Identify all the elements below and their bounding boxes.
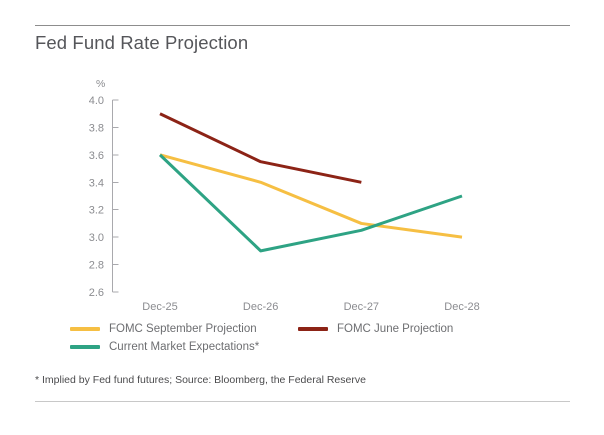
y-axis-ticks: 4.03.83.63.43.23.02.82.6: [89, 95, 119, 299]
y-axis: 4.03.83.63.43.23.02.82.6: [89, 95, 119, 299]
y-tick-label: 2.6: [89, 287, 104, 299]
series-lines: [160, 114, 462, 251]
x-tick-label: Dec-28: [444, 301, 479, 313]
chart-card: Fed Fund Rate Projection 4.03.83.63.43.2…: [0, 0, 604, 435]
x-tick-label: Dec-25: [142, 301, 177, 313]
legend-swatch-market-expectations: [70, 345, 100, 349]
y-tick-label: 2.8: [89, 260, 104, 272]
chart-legend: FOMC September Projection FOMC June Proj…: [70, 320, 570, 356]
y-axis-unit-label: %: [96, 78, 105, 90]
legend-row-2: Current Market Expectations*: [70, 338, 570, 356]
y-tick-label: 3.0: [89, 232, 104, 244]
legend-item-fomc-september[interactable]: FOMC September Projection: [70, 320, 298, 338]
series-line-fomc-june: [160, 114, 361, 183]
legend-label-market-expectations: Current Market Expectations*: [109, 341, 259, 353]
y-tick-label: 3.8: [89, 122, 104, 134]
x-axis-ticks: Dec-25Dec-26Dec-27Dec-28: [142, 301, 479, 313]
x-tick-label: Dec-26: [243, 301, 278, 313]
bottom-divider: [35, 401, 570, 402]
y-tick-label: 3.2: [89, 205, 104, 217]
footnote-text: * Implied by Fed fund futures; Source: B…: [35, 374, 366, 386]
legend-item-fomc-june[interactable]: FOMC June Projection: [298, 320, 453, 338]
line-chart-svg: 4.03.83.63.43.23.02.82.6 Dec-25Dec-26Dec…: [0, 0, 604, 435]
legend-label-fomc-june: FOMC June Projection: [337, 323, 453, 335]
legend-label-fomc-september: FOMC September Projection: [109, 323, 257, 335]
legend-item-market-expectations[interactable]: Current Market Expectations*: [70, 338, 298, 356]
plot-area: 4.03.83.63.43.23.02.82.6 Dec-25Dec-26Dec…: [0, 0, 604, 435]
y-tick-label: 3.4: [89, 177, 104, 189]
legend-swatch-fomc-september: [70, 327, 100, 331]
legend-row-1: FOMC September Projection FOMC June Proj…: [70, 320, 570, 338]
y-tick-label: 3.6: [89, 150, 104, 162]
y-axis-line: [113, 100, 119, 292]
x-tick-label: Dec-27: [344, 301, 379, 313]
y-tick-label: 4.0: [89, 95, 104, 107]
legend-swatch-fomc-june: [298, 327, 328, 331]
